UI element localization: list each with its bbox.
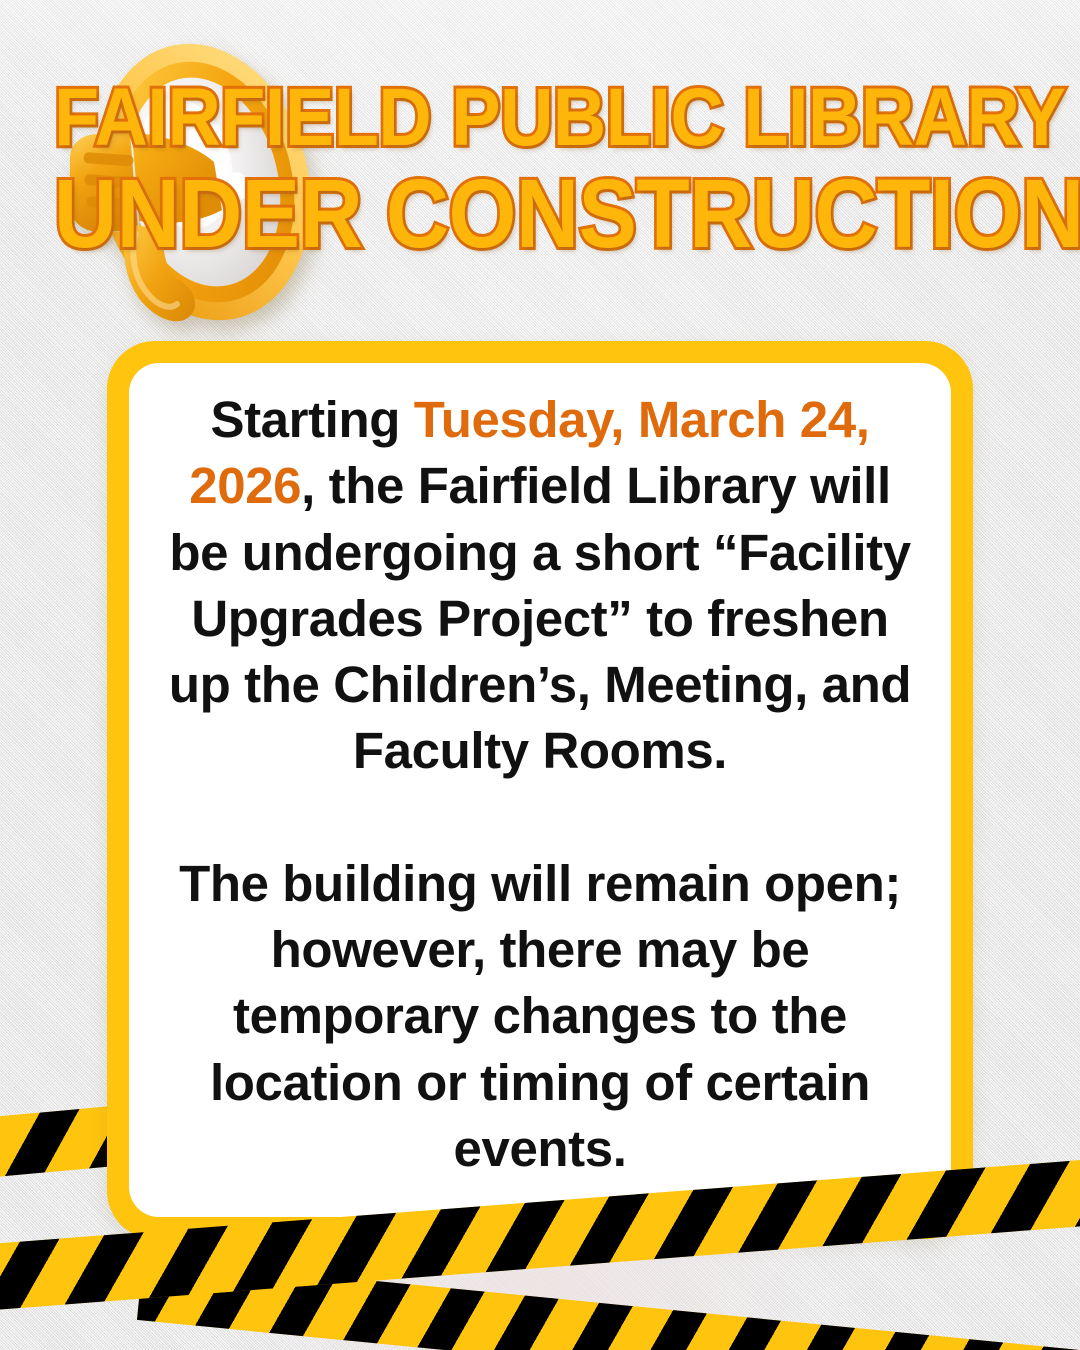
announcement-poster: FAIRFIELD PUBLIC LIBRARY UNDER CONSTRUCT… bbox=[0, 0, 1080, 1350]
paragraph-1-before-date: Starting bbox=[210, 391, 413, 448]
announcement-card: Starting Tuesday, March 24, 2026, the Fa… bbox=[107, 341, 973, 1239]
announcement-paragraph-2: The building will remain open; however, … bbox=[163, 851, 917, 1182]
paragraph-spacer bbox=[163, 785, 917, 851]
announcement-card-inner: Starting Tuesday, March 24, 2026, the Fa… bbox=[129, 363, 951, 1217]
announcement-text: Starting Tuesday, March 24, 2026, the Fa… bbox=[163, 387, 917, 1182]
announcement-paragraph-1: Starting Tuesday, March 24, 2026, the Fa… bbox=[163, 387, 917, 785]
megaphone-icon bbox=[36, 34, 366, 344]
